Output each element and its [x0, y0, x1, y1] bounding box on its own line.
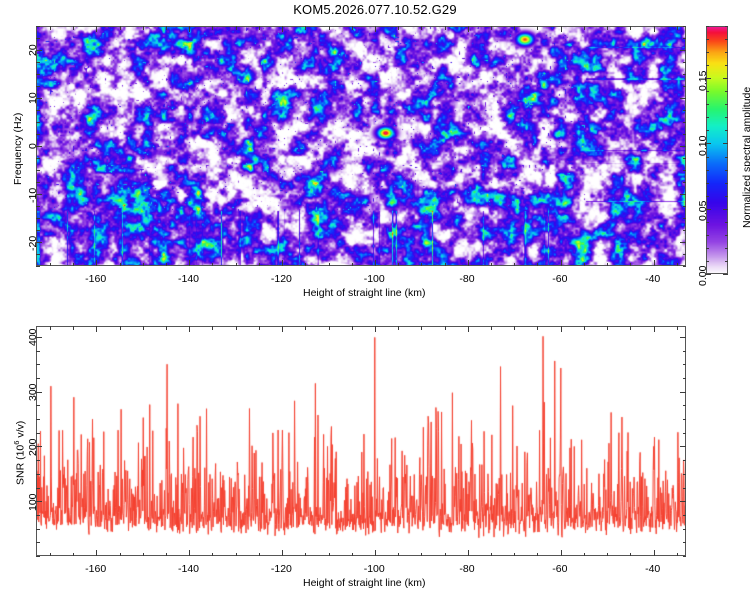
- axis-tick: [36, 515, 40, 516]
- axis-tick: [36, 62, 40, 63]
- axis-tick: [683, 230, 687, 231]
- axis-tick: [491, 553, 492, 557]
- axis-tick: [36, 254, 40, 255]
- axis-tick: [725, 117, 728, 118]
- axis-tick: [212, 263, 213, 267]
- axis-tick: [683, 206, 687, 207]
- axis-tick: [683, 86, 687, 87]
- axis-tick: [683, 254, 687, 255]
- axis-tick: [491, 26, 492, 30]
- snr-plot-area[interactable]: [36, 326, 686, 556]
- axis-tick: [683, 351, 687, 352]
- colorbar-label: Normalized spectral amplitude: [741, 87, 750, 228]
- axis-tick-label: -40: [645, 273, 660, 285]
- axis-tick: [352, 263, 353, 267]
- axis-tick: [491, 326, 492, 330]
- axis-tick: [36, 86, 40, 87]
- axis-tick: [683, 542, 687, 543]
- axis-tick: [725, 183, 728, 184]
- axis-tick: [36, 38, 40, 39]
- axis-tick: [723, 209, 728, 210]
- axis-tick: [706, 104, 709, 105]
- axis-tick: [50, 553, 51, 557]
- axis-tick: [375, 326, 376, 332]
- axis-tick: [683, 122, 687, 123]
- axis-tick: [96, 326, 97, 332]
- axis-tick: [680, 194, 686, 195]
- figure-title: KOM5.2026.077.10.52.G29: [0, 2, 750, 17]
- axis-tick: [706, 222, 709, 223]
- axis-tick: [537, 26, 538, 30]
- axis-tick: [36, 206, 40, 207]
- spectrogram-x-axis-label: Height of straight line (km): [303, 287, 426, 299]
- axis-tick: [73, 26, 74, 30]
- axis-tick: [36, 419, 40, 420]
- axis-tick: [725, 222, 728, 223]
- axis-tick: [166, 326, 167, 330]
- axis-tick: [120, 263, 121, 267]
- axis-tick: [683, 182, 687, 183]
- axis-tick: [189, 326, 190, 332]
- axis-tick: [607, 263, 608, 267]
- axis-tick: [607, 553, 608, 557]
- axis-tick-label: -60: [552, 273, 567, 285]
- axis-tick: [725, 39, 728, 40]
- axis-tick: [421, 326, 422, 330]
- axis-tick: [166, 553, 167, 557]
- axis-tick: [680, 392, 686, 393]
- axis-tick: [725, 261, 728, 262]
- axis-tick: [36, 433, 40, 434]
- axis-tick-label: -140: [178, 563, 199, 575]
- axis-tick: [445, 326, 446, 330]
- axis-tick: [725, 248, 728, 249]
- axis-tick-label: 300: [27, 383, 39, 401]
- axis-tick: [683, 364, 687, 365]
- axis-tick: [36, 122, 40, 123]
- axis-tick: [468, 26, 469, 32]
- axis-tick: [259, 553, 260, 557]
- axis-tick: [680, 446, 686, 447]
- axis-tick: [36, 134, 40, 135]
- axis-tick: [706, 39, 709, 40]
- axis-tick: [683, 405, 687, 406]
- axis-tick: [683, 38, 687, 39]
- axis-tick: [537, 553, 538, 557]
- axis-tick: [725, 52, 728, 53]
- axis-tick: [491, 263, 492, 267]
- axis-tick: [282, 550, 283, 556]
- colorbar-image: [707, 27, 728, 274]
- axis-tick: [706, 157, 709, 158]
- axis-tick: [398, 263, 399, 267]
- axis-tick: [680, 337, 686, 338]
- axis-tick: [36, 488, 40, 489]
- axis-tick: [96, 26, 97, 32]
- axis-tick: [305, 263, 306, 267]
- axis-tick: [36, 364, 40, 365]
- axis-tick: [654, 326, 655, 332]
- axis-tick: [236, 553, 237, 557]
- axis-tick: [584, 326, 585, 330]
- axis-tick: [680, 242, 686, 243]
- axis-tick: [259, 326, 260, 330]
- axis-tick: [514, 263, 515, 267]
- axis-tick-label: -40: [645, 563, 660, 575]
- axis-tick: [630, 263, 631, 267]
- axis-tick: [683, 158, 687, 159]
- axis-tick: [445, 263, 446, 267]
- axis-tick: [706, 26, 709, 27]
- axis-tick: [36, 542, 40, 543]
- axis-tick: [50, 263, 51, 267]
- axis-tick: [683, 515, 687, 516]
- axis-tick: [36, 170, 40, 171]
- axis-tick: [654, 260, 655, 266]
- axis-tick: [36, 158, 40, 159]
- axis-tick: [514, 326, 515, 330]
- spectrogram-y-axis-label: Frequency (Hz): [12, 113, 24, 185]
- axis-tick: [236, 326, 237, 330]
- axis-tick: [683, 556, 687, 557]
- axis-tick: [329, 553, 330, 557]
- axis-tick: [143, 553, 144, 557]
- axis-tick: [677, 26, 678, 30]
- axis-tick: [706, 52, 709, 53]
- axis-tick: [683, 266, 687, 267]
- axis-tick-label: 10: [27, 93, 39, 105]
- axis-tick: [36, 529, 40, 530]
- axis-tick: [584, 553, 585, 557]
- axis-tick: [706, 170, 709, 171]
- axis-tick: [73, 326, 74, 330]
- axis-tick: [73, 553, 74, 557]
- axis-tick-label: -140: [178, 273, 199, 285]
- axis-tick: [706, 117, 709, 118]
- axis-tick: [683, 218, 687, 219]
- axis-tick: [680, 501, 686, 502]
- axis-tick: [120, 326, 121, 330]
- colorbar-gradient[interactable]: [706, 26, 728, 274]
- axis-tick: [445, 553, 446, 557]
- axis-tick-label: 0.00: [697, 266, 709, 286]
- axis-tick: [421, 26, 422, 30]
- axis-tick: [683, 26, 687, 27]
- axis-tick: [36, 351, 40, 352]
- axis-tick: [683, 110, 687, 111]
- axis-tick: [329, 326, 330, 330]
- axis-tick: [725, 235, 728, 236]
- axis-tick: [120, 553, 121, 557]
- axis-tick: [561, 260, 562, 266]
- snr-y-axis-label: SNR (106 v/v): [12, 421, 27, 485]
- axis-tick: [305, 553, 306, 557]
- axis-tick: [36, 378, 40, 379]
- axis-tick: [683, 62, 687, 63]
- axis-tick: [96, 260, 97, 266]
- axis-tick: [50, 326, 51, 330]
- axis-tick: [537, 263, 538, 267]
- axis-tick: [706, 261, 709, 262]
- axis-tick: [654, 26, 655, 32]
- axis-tick: [468, 260, 469, 266]
- axis-tick: [445, 26, 446, 30]
- axis-tick: [120, 26, 121, 30]
- axis-tick-label: -60: [552, 563, 567, 575]
- axis-tick-label: -120: [271, 273, 292, 285]
- axis-tick: [36, 460, 40, 461]
- axis-tick: [630, 26, 631, 30]
- axis-tick: [561, 550, 562, 556]
- axis-tick: [683, 419, 687, 420]
- axis-tick: [398, 26, 399, 30]
- axis-tick: [375, 550, 376, 556]
- axis-tick-label: 0: [27, 143, 39, 149]
- axis-tick-label: -100: [364, 273, 385, 285]
- axis-tick: [584, 26, 585, 30]
- snr-trace: [37, 327, 686, 556]
- axis-tick: [143, 326, 144, 330]
- axis-tick: [706, 235, 709, 236]
- axis-tick: [725, 130, 728, 131]
- spectrogram-plot-area[interactable]: [36, 26, 686, 266]
- axis-tick-label: 0.10: [697, 135, 709, 155]
- axis-tick: [329, 26, 330, 30]
- axis-tick: [706, 91, 709, 92]
- axis-tick: [725, 91, 728, 92]
- axis-tick: [36, 182, 40, 183]
- axis-tick: [680, 98, 686, 99]
- snr-x-axis-label: Height of straight line (km): [303, 577, 426, 589]
- axis-tick: [212, 26, 213, 30]
- axis-tick: [36, 556, 40, 557]
- axis-tick-label: 20: [27, 45, 39, 57]
- axis-tick: [189, 260, 190, 266]
- axis-tick: [706, 130, 709, 131]
- axis-tick: [305, 26, 306, 30]
- axis-tick: [725, 104, 728, 105]
- axis-tick: [537, 326, 538, 330]
- axis-tick: [683, 460, 687, 461]
- axis-tick: [706, 196, 709, 197]
- axis-tick: [683, 134, 687, 135]
- axis-tick: [723, 143, 728, 144]
- axis-tick: [282, 26, 283, 32]
- axis-tick: [73, 263, 74, 267]
- axis-tick: [607, 326, 608, 330]
- axis-tick: [236, 263, 237, 267]
- axis-tick-label: 200: [27, 438, 39, 456]
- axis-tick-label: -100: [364, 563, 385, 575]
- spectrogram-image: [37, 27, 686, 266]
- axis-tick: [725, 26, 728, 27]
- axis-tick: [725, 196, 728, 197]
- axis-tick: [561, 326, 562, 332]
- axis-tick: [421, 553, 422, 557]
- axis-tick: [212, 326, 213, 330]
- axis-tick: [584, 263, 585, 267]
- axis-tick: [514, 26, 515, 30]
- axis-tick: [680, 50, 686, 51]
- axis-tick-label: 400: [27, 329, 39, 347]
- axis-tick: [725, 65, 728, 66]
- axis-tick: [677, 263, 678, 267]
- axis-tick: [677, 553, 678, 557]
- axis-tick: [166, 263, 167, 267]
- axis-tick-label: -80: [459, 563, 474, 575]
- axis-tick: [398, 553, 399, 557]
- axis-tick: [189, 26, 190, 32]
- axis-tick-label: -80: [459, 273, 474, 285]
- axis-tick: [375, 260, 376, 266]
- axis-tick-label: -160: [85, 563, 106, 575]
- axis-tick: [683, 74, 687, 75]
- axis-tick: [96, 550, 97, 556]
- axis-tick: [36, 474, 40, 475]
- axis-tick: [468, 550, 469, 556]
- axis-tick: [36, 230, 40, 231]
- axis-tick: [329, 263, 330, 267]
- axis-tick: [561, 26, 562, 32]
- axis-tick: [725, 170, 728, 171]
- axis-tick: [36, 26, 40, 27]
- axis-tick: [259, 263, 260, 267]
- axis-tick: [683, 378, 687, 379]
- axis-tick: [677, 326, 678, 330]
- snr-exponent: 6: [12, 441, 21, 445]
- axis-tick: [143, 263, 144, 267]
- axis-tick-label: -10: [27, 188, 39, 203]
- axis-tick: [706, 65, 709, 66]
- axis-tick: [236, 26, 237, 30]
- axis-tick: [723, 78, 728, 79]
- axis-tick: [514, 553, 515, 557]
- axis-tick: [259, 26, 260, 30]
- axis-tick: [36, 405, 40, 406]
- axis-tick: [468, 326, 469, 332]
- axis-tick-label: -20: [27, 236, 39, 251]
- axis-tick: [683, 433, 687, 434]
- axis-tick: [36, 266, 40, 267]
- axis-tick: [352, 26, 353, 30]
- axis-tick: [212, 553, 213, 557]
- axis-tick: [607, 26, 608, 30]
- axis-tick: [706, 183, 709, 184]
- axis-tick-label: 0.05: [697, 201, 709, 221]
- axis-tick: [683, 474, 687, 475]
- axis-tick: [683, 529, 687, 530]
- axis-tick: [683, 488, 687, 489]
- axis-tick: [630, 326, 631, 330]
- axis-tick-label: -120: [271, 563, 292, 575]
- axis-tick: [421, 263, 422, 267]
- axis-tick: [143, 26, 144, 30]
- axis-tick: [630, 553, 631, 557]
- axis-tick: [189, 550, 190, 556]
- axis-tick: [50, 26, 51, 30]
- axis-tick: [166, 26, 167, 30]
- axis-tick: [654, 550, 655, 556]
- axis-tick: [398, 326, 399, 330]
- axis-tick: [723, 274, 728, 275]
- axis-tick: [352, 553, 353, 557]
- axis-tick: [725, 157, 728, 158]
- axis-tick: [36, 218, 40, 219]
- axis-tick: [36, 110, 40, 111]
- axis-tick-label: 100: [27, 493, 39, 511]
- axis-tick: [352, 326, 353, 330]
- axis-tick: [282, 260, 283, 266]
- axis-tick: [375, 26, 376, 32]
- axis-tick-label: 0.15: [697, 70, 709, 90]
- axis-tick: [683, 170, 687, 171]
- axis-tick: [305, 326, 306, 330]
- axis-tick: [680, 146, 686, 147]
- axis-tick: [282, 326, 283, 332]
- axis-tick: [706, 248, 709, 249]
- axis-tick: [36, 74, 40, 75]
- axis-tick-label: -160: [85, 273, 106, 285]
